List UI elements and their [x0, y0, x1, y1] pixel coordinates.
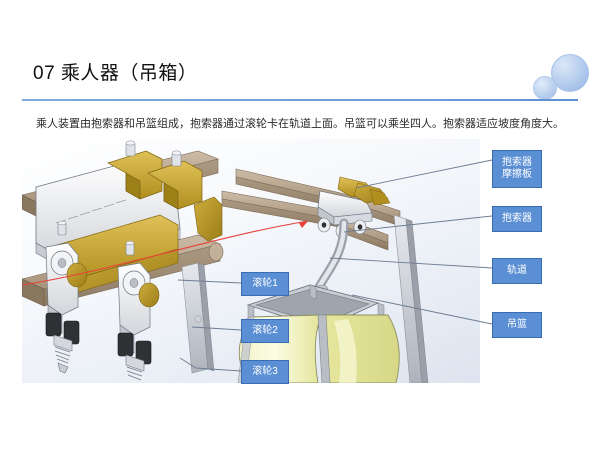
label-roller-1[interactable]: 滚轮1 — [241, 272, 289, 296]
label-friction-plate-line1: 抱索器 — [502, 157, 532, 169]
label-friction-plate[interactable]: 抱索器 摩擦板 — [492, 150, 542, 188]
technical-illustration — [22, 139, 480, 383]
label-track[interactable]: 轨道 — [492, 258, 542, 284]
label-gripper[interactable]: 抱索器 — [492, 206, 542, 232]
label-friction-plate-line2: 摩擦板 — [502, 169, 532, 181]
label-track-text: 轨道 — [507, 265, 527, 277]
slide-canvas: 07 乘人器（吊箱） 乘人装置由抱索器和吊篮组成，抱索器通过滚轮卡在轨道上面。吊… — [0, 0, 600, 450]
label-gripper-text: 抱索器 — [502, 213, 532, 225]
label-roller-1-text: 滚轮1 — [252, 278, 278, 290]
page-title: 07 乘人器（吊箱） — [33, 58, 197, 85]
circle-decoration-small-icon — [533, 76, 557, 100]
label-roller-2-text: 滚轮2 — [252, 325, 278, 337]
label-roller-3[interactable]: 滚轮3 — [241, 360, 289, 384]
subtitle-text: 乘人装置由抱索器和吊篮组成，抱索器通过滚轮卡在轨道上面。吊篮可以乘坐四人。抱索器… — [36, 117, 576, 132]
label-roller-3-text: 滚轮3 — [252, 366, 278, 378]
title-divider — [22, 99, 578, 101]
label-cabin-text: 吊篮 — [507, 319, 527, 331]
roller-carriage-2 — [118, 263, 159, 380]
label-cabin[interactable]: 吊篮 — [492, 312, 542, 338]
label-roller-2[interactable]: 滚轮2 — [241, 319, 289, 343]
left-gripper-assembly — [22, 141, 223, 380]
